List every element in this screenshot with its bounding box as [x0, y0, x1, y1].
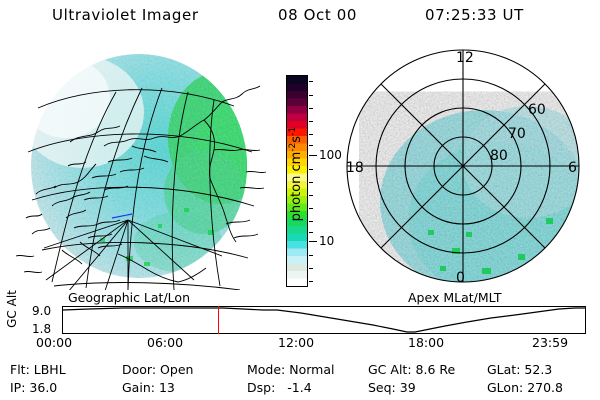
mlt-label-18: 18	[346, 160, 364, 176]
status-door-value: Open	[160, 362, 193, 377]
status-flt-value: LBHL	[34, 362, 66, 377]
colorbar-axis-title-exp1: -2	[288, 143, 298, 152]
gc-alt-ytick-bottom: 1.8	[32, 323, 51, 335]
gc-alt-axis-label: GC Alt	[5, 283, 19, 335]
colorbar-minor-tick	[309, 121, 313, 122]
colorbar-minor-tick	[309, 221, 313, 222]
colorbar-minor-tick	[309, 268, 313, 269]
status-glat-value: 52.3	[524, 362, 552, 377]
page-title: Ultraviolet Imager	[52, 6, 199, 24]
status-glon-value: 270.8	[527, 380, 563, 395]
gc-alt-trace	[63, 308, 585, 332]
time-tick-0000: 00:00	[36, 337, 72, 350]
gc-alt-ytick-top: 9.0	[32, 305, 51, 317]
geographic-caption: Geographic Lat/Lon	[68, 290, 190, 305]
status-seq-label: Seq:	[368, 380, 396, 395]
apex-polar-grid	[347, 50, 579, 282]
status-ip-label: IP:	[10, 380, 25, 395]
apex-polar-panel[interactable]: 12 6 0 18 60 70 80 Apex MLat/MLT	[332, 42, 594, 290]
status-seq-value: 39	[400, 380, 416, 395]
status-gain-label: Gain:	[122, 380, 155, 395]
status-dsp-value: -1.4	[279, 380, 311, 395]
colorbar-minor-tick	[309, 182, 313, 183]
gc-alt-axis-label-line1: Alt	[5, 290, 19, 306]
colorbar-minor-tick	[309, 232, 313, 233]
colorbar-axis-title-exp2: -1	[288, 127, 298, 136]
status-flt-label: Flt:	[10, 362, 30, 377]
colorbar-minor-tick	[309, 169, 313, 170]
status-glat: GLat: 52.3	[487, 362, 552, 377]
time-tick-0600: 06:00	[147, 337, 183, 350]
geographic-image-panel[interactable]: Geographic Lat/Lon	[8, 42, 270, 290]
status-seq: Seq: 39	[368, 380, 416, 395]
time-tick-1800: 18:00	[408, 337, 444, 350]
status-door: Door: Open	[122, 362, 193, 377]
status-dsp: Dsp: -1.4	[247, 380, 312, 395]
status-gain: Gain: 13	[122, 380, 175, 395]
mlat-label-70: 70	[508, 126, 526, 142]
colorbar-minor-tick	[309, 255, 313, 256]
header-bar: Ultraviolet Imager 08 Oct 00 07:25:33 UT	[0, 6, 600, 28]
mlt-label-12: 12	[456, 50, 474, 66]
status-mode: Mode: Normal	[247, 362, 335, 377]
time-tick-2359: 23:59	[532, 337, 568, 350]
status-gc-alt-label: GC Alt:	[368, 362, 412, 377]
status-gc-alt: GC Alt: 8.6 Re	[368, 362, 455, 377]
status-footer: Flt: LBHL Door: Open Mode: Normal GC Alt…	[0, 360, 600, 400]
gc-alt-trace-svg	[63, 307, 585, 333]
aurora-emission-layer	[20, 54, 270, 278]
status-glon: GLon: 270.8	[487, 380, 563, 395]
colorbar-axis-title-main: photon cm	[289, 152, 304, 222]
apex-polar-svg: 12 6 0 18 60 70 80	[332, 42, 594, 290]
colorbar-minor-tick	[309, 134, 313, 135]
colorbar-axis-title-mid: s	[289, 136, 304, 143]
gc-alt-plot-box[interactable]	[62, 306, 586, 334]
status-mode-label: Mode:	[247, 362, 285, 377]
status-dsp-label: Dsp:	[247, 380, 275, 395]
colorbar-tick-100	[309, 155, 317, 156]
geographic-globe-svg	[8, 42, 270, 290]
observation-time: 07:25:33 UT	[425, 6, 524, 24]
status-glat-label: GLat:	[487, 362, 520, 377]
colorbar-minor-tick	[309, 108, 313, 109]
geographic-image-clip	[8, 42, 270, 290]
status-ip-value: 36.0	[29, 380, 57, 395]
mlt-label-6: 6	[568, 160, 577, 176]
apex-caption: Apex MLat/MLT	[408, 290, 502, 305]
colorbar-minor-tick	[309, 81, 313, 82]
status-gc-alt-value: 8.6 Re	[416, 362, 456, 377]
time-cursor[interactable]	[218, 306, 219, 334]
time-tick-1200: 12:00	[278, 337, 314, 350]
mlat-label-80: 80	[490, 148, 508, 164]
status-mode-value: Normal	[289, 362, 334, 377]
colorbar-axis-title: photon cm-2s-1	[288, 74, 304, 274]
colorbar-minor-tick	[309, 208, 313, 209]
observation-date: 08 Oct 00	[278, 6, 357, 24]
status-gain-value: 13	[159, 380, 175, 395]
mlat-label-60: 60	[528, 102, 546, 118]
status-glon-label: GLon:	[487, 380, 523, 395]
status-door-label: Door:	[122, 362, 156, 377]
status-flt: Flt: LBHL	[10, 362, 66, 377]
colorbar-tick-10	[309, 241, 317, 242]
status-ip: IP: 36.0	[10, 380, 57, 395]
colorbar-minor-tick	[309, 195, 313, 196]
mlt-label-0: 0	[456, 270, 465, 286]
gc-altitude-timeline[interactable]: GC Alt 9.0 1.8 Geographic Lat/Lon Apex M…	[0, 294, 600, 352]
gc-alt-axis-label-line2: GC	[5, 310, 19, 328]
colorbar-minor-tick	[309, 145, 313, 146]
colorbar-minor-tick	[309, 95, 313, 96]
apex-emission-layer	[380, 106, 594, 290]
colorbar-minor-tick	[309, 281, 313, 282]
uvi-summary-screen: Ultraviolet Imager 08 Oct 00 07:25:33 UT	[0, 0, 600, 400]
